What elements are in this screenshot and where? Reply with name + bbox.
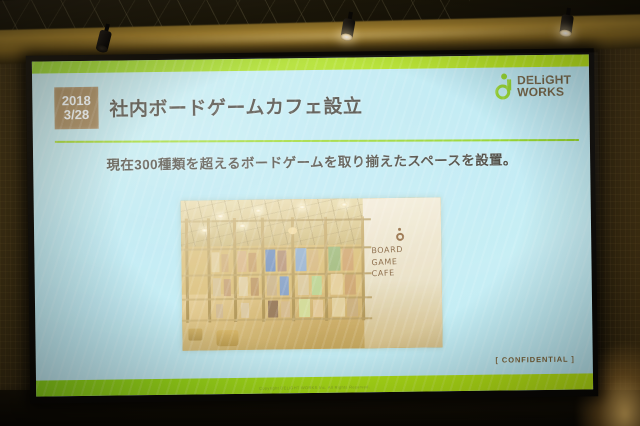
delightworks-mark-icon [495, 73, 512, 99]
slide-top-bar [32, 54, 589, 73]
room-scene: 2018 3/28 社内ボードゲームカフェ設立 DELiGHT WORKS 現在… [0, 0, 640, 426]
slide: 2018 3/28 社内ボードゲームカフェ設立 DELiGHT WORKS 現在… [32, 54, 593, 396]
date-badge: 2018 3/28 [54, 87, 99, 130]
slide-header: 2018 3/28 社内ボードゲームカフェ設立 [54, 83, 362, 129]
cafe-chair [216, 330, 238, 346]
cafe-sign-line-3: CAFE [371, 266, 433, 281]
presentation-screen[interactable]: 2018 3/28 社内ボードゲームカフェ設立 DELiGHT WORKS 現在… [26, 48, 599, 403]
cafe-photo: BOARD GAME CAFE [181, 197, 443, 350]
slide-subtitle: 現在300種類を超えるボードゲームを取り揃えたスペースを設置。 [33, 147, 590, 174]
confidential-label: [ CONFIDENTIAL ] [495, 355, 574, 365]
cafe-sign-text: BOARD GAME CAFE [371, 243, 433, 279]
logo-line-2: WORKS [517, 86, 571, 99]
cafe-chair [188, 328, 202, 340]
logo-wordmark: DELiGHT WORKS [517, 74, 571, 99]
page-title: 社内ボードゲームカフェ設立 [109, 91, 362, 121]
bookshelf [181, 216, 372, 322]
date-badge-month-day: 3/28 [64, 108, 89, 122]
cafe-sign-logo-icon [396, 228, 405, 241]
title-divider [55, 139, 579, 142]
company-logo: DELiGHT WORKS [495, 73, 571, 100]
